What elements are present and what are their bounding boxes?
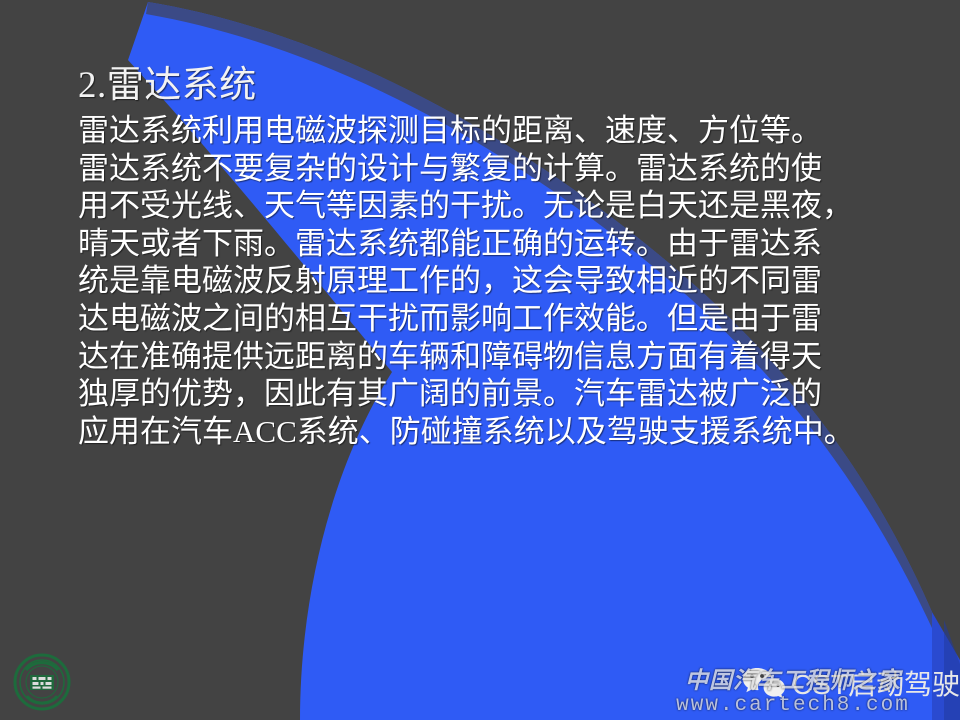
body-line: 独厚的优势，因此有其广阔的前景。汽车雷达被广泛的 xyxy=(78,375,908,413)
body-line: 达在准确提供远距离的车辆和障碍物信息方面有着得天 xyxy=(78,338,908,376)
site-watermark: 中国汽车工程师之家 www.cartech8.com xyxy=(628,668,958,718)
watermark-chinese-text: 中国汽车工程师之家 xyxy=(628,668,958,694)
body-line: 晴天或者下雨。雷达系统都能正确的运转。由于雷达系 xyxy=(78,225,908,263)
watermark-url-text: www.cartech8.com xyxy=(628,694,958,718)
body-line: 统是靠电磁波反射原理工作的，这会导致相近的不同雷 xyxy=(78,262,908,300)
body-line: 雷达系统利用电磁波探测目标的距离、速度、方位等。 xyxy=(78,112,908,150)
body-line: 雷达系统不要复杂的设计与繁复的计算。雷达系统的使 xyxy=(78,150,908,188)
body-line: 达电磁波之间的相互干扰而影响工作效能。但是由于雷 xyxy=(78,300,908,338)
body-line: 应用在汽车ACC系统、防碰撞系统以及驾驶支援系统中。 xyxy=(78,413,908,451)
page-title: 2.雷达系统 xyxy=(78,62,908,110)
presentation-slide: 2.雷达系统 雷达系统利用电磁波探测目标的距离、速度、方位等。 雷达系统不要复杂… xyxy=(0,0,960,720)
slide-content: 2.雷达系统 雷达系统利用电磁波探测目标的距离、速度、方位等。 雷达系统不要复杂… xyxy=(78,62,908,450)
body-line: 用不受光线、天气等因素的干扰。无论是白天还是黑夜， xyxy=(78,187,908,225)
body-text: 雷达系统利用电磁波探测目标的距离、速度、方位等。 雷达系统不要复杂的设计与繁复的… xyxy=(78,112,908,450)
organization-seal-icon xyxy=(13,653,71,711)
